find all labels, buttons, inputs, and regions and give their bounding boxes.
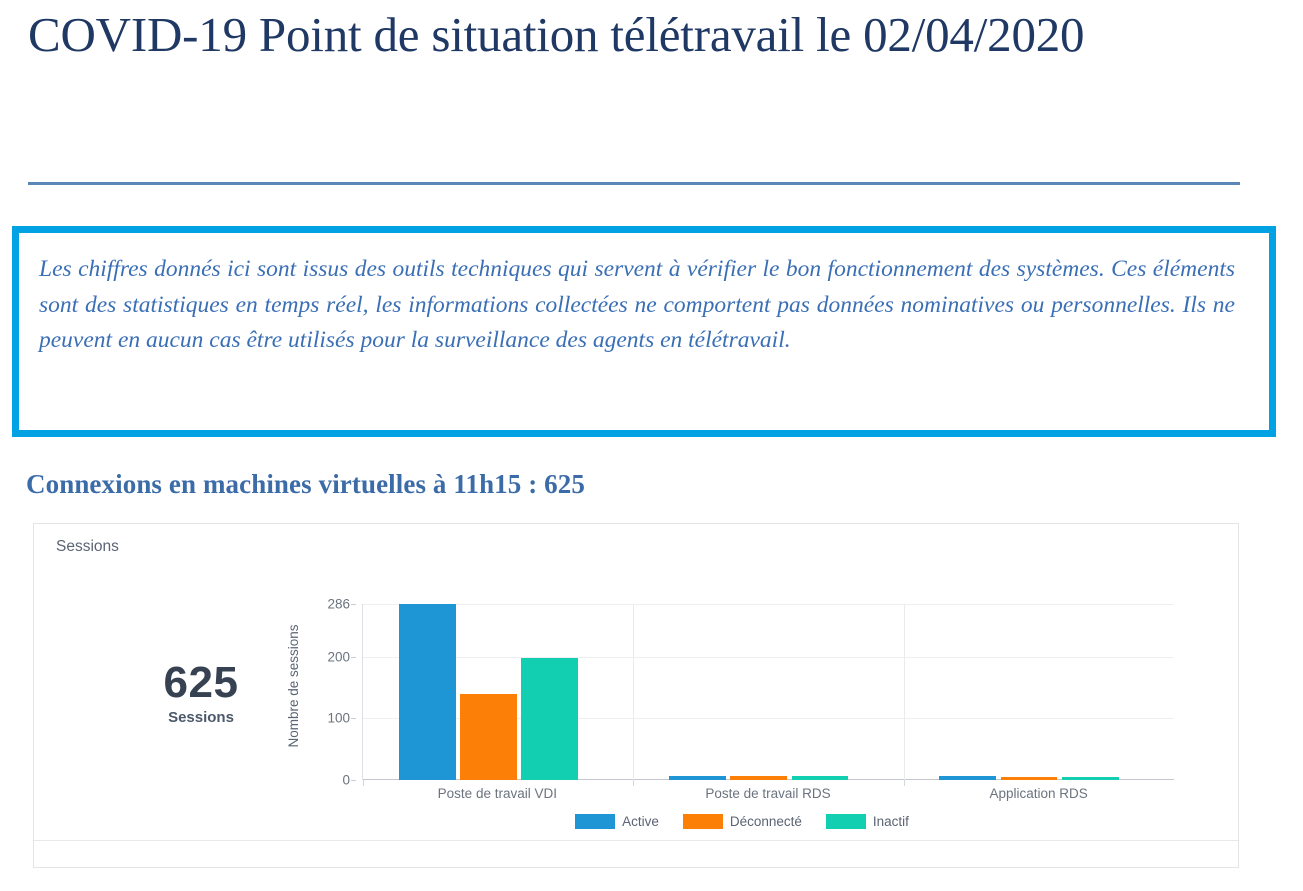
bar-dconnect-0 [460,694,517,780]
bar-dconnect-1 [730,776,787,780]
group-separator [904,604,905,780]
x-axis-label: Poste de travail RDS [705,786,830,801]
bar-inactif-0 [521,658,578,780]
y-tick-mark [351,604,356,605]
group-separator [633,604,634,780]
y-axis-title: Nombre de sessions [286,606,302,766]
sessions-chart-card: Sessions 625 Sessions Nombre de sessions… [33,523,1239,868]
legend-item-inactif[interactable]: Inactif [826,814,909,829]
plot-canvas [362,604,1174,780]
card-title: Sessions [56,538,119,556]
x-axis-labels: Poste de travail VDIPoste de travail RDS… [362,786,1174,806]
page-title: COVID-19 Point de situation télétravail … [28,6,1243,63]
legend-item-dconnect[interactable]: Déconnecté [683,814,802,829]
legend-item-active[interactable]: Active [575,814,659,829]
x-axis-label: Application RDS [990,786,1088,801]
bar-series-container [363,604,1174,780]
y-tick-label: 286 [327,597,350,612]
bar-active-0 [399,604,456,780]
card-footer-divider [34,840,1238,841]
y-tick-mark [351,780,356,781]
kpi-sessions: 625 Sessions [106,659,296,728]
y-tick-mark [351,718,356,719]
chart-legend: ActiveDéconnectéInactif [292,814,1192,829]
y-axis-ticks: 0100200286 [310,604,356,780]
disclaimer-callout: Les chiffres donnés ici sont issus des o… [12,226,1276,437]
y-tick-label: 100 [327,711,350,726]
disclaimer-text: Les chiffres donnés ici sont issus des o… [39,252,1235,359]
legend-label: Active [622,814,659,829]
legend-swatch-icon [826,814,866,829]
bar-inactif-2 [1062,777,1119,780]
y-tick-mark [351,657,356,658]
legend-swatch-icon [575,814,615,829]
x-axis-label: Poste de travail VDI [438,786,557,801]
kpi-value: 625 [106,659,296,707]
legend-label: Inactif [873,814,909,829]
bar-inactif-1 [792,776,849,780]
kpi-label: Sessions [106,708,296,728]
legend-label: Déconnecté [730,814,802,829]
bar-active-2 [939,776,996,780]
title-divider [28,182,1240,185]
bar-active-1 [669,776,726,780]
plot-area: Nombre de sessions 0100200286 Poste de t… [292,604,1192,834]
bar-dconnect-2 [1001,777,1058,780]
y-tick-label: 200 [327,649,350,664]
legend-swatch-icon [683,814,723,829]
section-heading: Connexions en machines virtuelles à 11h1… [26,467,585,501]
y-tick-label: 0 [342,773,350,788]
